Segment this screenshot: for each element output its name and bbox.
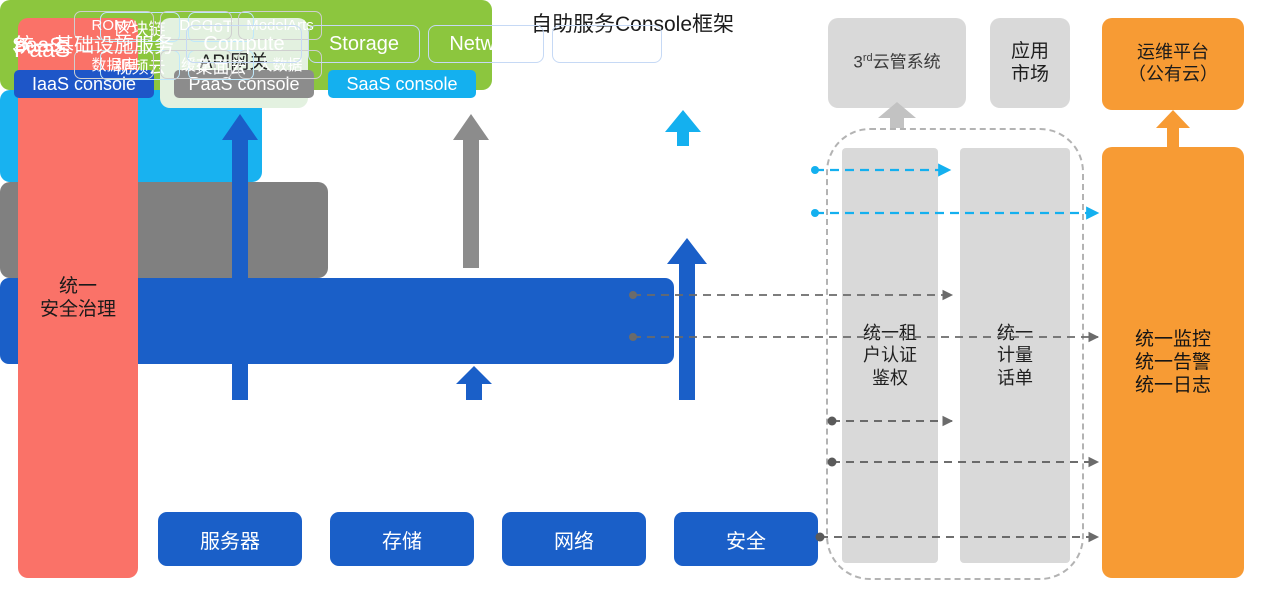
ops-platform-public-cloud-box[interactable]: 运维平台 （公有云） [1102, 18, 1244, 110]
tenant-auth-line3: 鉴权 [863, 367, 917, 390]
security-governance-panel[interactable]: 统一 安全治理 [18, 18, 138, 578]
arrow-infra-to-paas [456, 366, 492, 400]
hardware-box-network[interactable]: 网络 [502, 512, 646, 566]
unified-monitoring-line2: 统一告警 [1135, 351, 1211, 374]
metering-line3: 话单 [997, 367, 1033, 390]
app-market-line2: 市场 [1011, 63, 1049, 86]
arrow-paas-to-console [453, 114, 489, 268]
unified-tenant-auth-column[interactable]: 统一租 户认证 鉴权 [842, 148, 938, 563]
infra-tag-network[interactable]: Network [428, 25, 544, 63]
unified-monitoring-line3: 统一日志 [1135, 374, 1211, 397]
hardware-box-storage[interactable]: 存储 [330, 512, 474, 566]
security-governance-line2: 安全治理 [40, 298, 116, 321]
unified-monitoring-panel[interactable]: 统一监控 统一告警 统一日志 [1102, 147, 1244, 578]
infra-tag-cce[interactable]: CCE [552, 25, 662, 63]
ops-platform-line2: （公有云） [1128, 64, 1218, 86]
arrow-ops-main-to-ops-top [1156, 110, 1190, 147]
metering-line1: 统一 [997, 322, 1033, 345]
infra-tag-compute[interactable]: Compute [186, 25, 302, 63]
tenant-auth-line2: 户认证 [863, 344, 917, 367]
third-party-text: 云管系统 [873, 53, 941, 72]
third-party-prefix: 3 [853, 53, 862, 72]
app-market-box[interactable]: 应用 市场 [990, 18, 1070, 108]
saas-console-chip[interactable]: SaaS console [328, 70, 476, 98]
third-party-cloud-mgmt-box[interactable]: 3rd云管系统 [828, 18, 966, 108]
third-party-sup: rd [863, 52, 873, 64]
tenant-auth-line1: 统一租 [863, 322, 917, 345]
unified-infrastructure-label: 统一基础设施服务 [14, 29, 174, 58]
hardware-box-security[interactable]: 安全 [674, 512, 818, 566]
infra-tag-storage[interactable]: Storage [308, 25, 420, 63]
hardware-box-server[interactable]: 服务器 [158, 512, 302, 566]
unified-monitoring-line1: 统一监控 [1135, 328, 1211, 351]
ops-platform-line1: 运维平台 [1128, 42, 1218, 64]
app-market-line1: 应用 [1011, 40, 1049, 63]
unified-metering-billing-column[interactable]: 统一 计量 话单 [960, 148, 1070, 563]
arrow-saas-to-saas-console [665, 110, 701, 146]
security-governance-line1: 统一 [40, 275, 116, 298]
architecture-diagram: 统一 安全治理 API网关 自助服务Console框架 IaaS console… [0, 0, 1265, 605]
third-party-label: 3rd云管系统 [853, 52, 940, 73]
metering-line2: 计量 [997, 344, 1033, 367]
